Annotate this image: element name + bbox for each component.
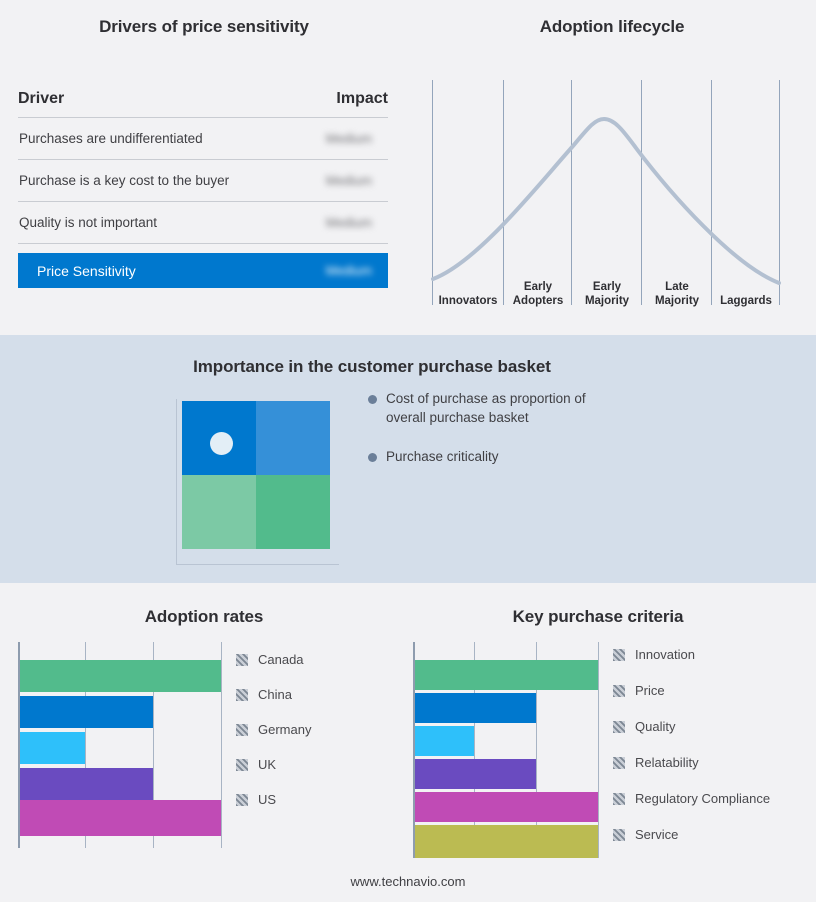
drivers-table: Driver Impact Purchases are undifferenti… xyxy=(18,90,388,288)
legend-label-line2: overall purchase basket xyxy=(386,410,529,425)
gridline-100 xyxy=(598,642,599,858)
legend-item-germany: Germany xyxy=(236,722,311,737)
matrix-quadrant-bottom-right xyxy=(256,475,330,549)
lifecycle-stage-laggards: Laggards xyxy=(712,294,780,308)
legend-item-purchase-criticality: Purchase criticality xyxy=(368,448,668,467)
impact-value: Medium xyxy=(326,173,388,188)
bar-us xyxy=(20,800,221,836)
driver-label: Purchase is a key cost to the buyer xyxy=(18,173,229,188)
gridline-100 xyxy=(221,642,222,848)
legend-item-us: US xyxy=(236,792,311,807)
matrix-position-marker xyxy=(210,432,233,455)
lifecycle-stage-label: Adopters xyxy=(504,294,572,308)
hatched-square-icon xyxy=(613,829,625,841)
bar-china xyxy=(20,696,153,728)
driver-label: Quality is not important xyxy=(18,215,157,230)
legend-label: Service xyxy=(635,827,678,842)
legend-label-line1: Cost of purchase as proportion of xyxy=(386,391,586,406)
lifecycle-stage-label: Majority xyxy=(642,294,712,308)
bar-canada xyxy=(20,660,221,692)
matrix-quadrants xyxy=(182,401,330,549)
drivers-panel: Drivers of price sensitivity Driver Impa… xyxy=(0,0,408,335)
legend-label: Relatability xyxy=(635,755,699,770)
bullet-icon xyxy=(368,395,377,404)
hatched-square-icon xyxy=(613,721,625,733)
legend-label: Purchase criticality xyxy=(386,448,499,467)
hatched-square-icon xyxy=(613,685,625,697)
legend-label: Regulatory Compliance xyxy=(635,791,770,806)
lifecycle-stage-label: Majority xyxy=(572,294,642,308)
lifecycle-stage-late-majority: Late Majority xyxy=(642,280,712,308)
table-row: Purchase is a key cost to the buyer Medi… xyxy=(18,160,388,202)
lifecycle-stage-label: Laggards xyxy=(712,294,780,308)
impact-value: Medium xyxy=(326,131,388,146)
legend-label: Price xyxy=(635,683,665,698)
legend-item-price: Price xyxy=(613,683,770,698)
hatched-square-icon xyxy=(613,757,625,769)
bar-uk xyxy=(20,768,153,800)
adoption-lifecycle-panel: Adoption lifecycle Innovators Early Adop… xyxy=(408,0,816,335)
lifecycle-stage-label: Innovators xyxy=(433,294,503,308)
legend-item-innovation: Innovation xyxy=(613,647,770,662)
impact-value: Medium xyxy=(326,215,388,230)
legend-item-uk: UK xyxy=(236,757,311,772)
column-header-impact: Impact xyxy=(336,90,388,108)
infographic-page: Drivers of price sensitivity Driver Impa… xyxy=(0,0,816,902)
table-row: Quality is not important Medium xyxy=(18,202,388,244)
matrix-quadrant-bottom-left xyxy=(182,475,256,549)
legend-label: US xyxy=(258,792,276,807)
drivers-table-header: Driver Impact xyxy=(18,90,388,118)
legend-item-cost-of-purchase: Cost of purchase as proportion of overal… xyxy=(368,390,668,427)
adoption-rates-plot xyxy=(18,642,222,848)
bar-quality xyxy=(415,726,474,756)
bar-service xyxy=(415,825,598,858)
lifecycle-divider-lines xyxy=(433,80,780,305)
bar-innovation xyxy=(415,660,598,690)
column-header-driver: Driver xyxy=(18,90,64,108)
importance-title: Importance in the customer purchase bask… xyxy=(0,357,744,377)
price-sensitivity-summary-row: Price Sensitivity Medium xyxy=(18,253,388,288)
legend-label: Germany xyxy=(258,722,311,737)
legend-label: China xyxy=(258,687,292,702)
summary-driver-label: Price Sensitivity xyxy=(18,263,136,279)
matrix-y-axis xyxy=(176,399,177,565)
table-row: Purchases are undifferentiated Medium xyxy=(18,118,388,160)
hatched-square-icon xyxy=(236,724,248,736)
bar-germany xyxy=(20,732,85,764)
lifecycle-stage-label: Early xyxy=(504,280,572,294)
matrix-x-axis xyxy=(176,564,339,565)
key-purchase-criteria-panel: Key purchase criteria Innovation Price xyxy=(408,583,816,902)
hatched-square-icon xyxy=(236,654,248,666)
legend-item-quality: Quality xyxy=(613,719,770,734)
hatched-square-icon xyxy=(613,649,625,661)
legend-label: Cost of purchase as proportion of overal… xyxy=(386,390,586,427)
hatched-square-icon xyxy=(613,793,625,805)
drivers-title: Drivers of price sensitivity xyxy=(0,17,408,37)
lifecycle-stage-innovators: Innovators xyxy=(433,294,503,308)
key-purchase-criteria-title: Key purchase criteria xyxy=(394,607,802,627)
footer-url: www.technavio.com xyxy=(0,874,816,889)
legend-label: Innovation xyxy=(635,647,695,662)
hatched-square-icon xyxy=(236,689,248,701)
importance-legend: Cost of purchase as proportion of overal… xyxy=(368,390,668,488)
importance-panel: Importance in the customer purchase bask… xyxy=(0,335,816,583)
lifecycle-stage-label: Late xyxy=(642,280,712,294)
legend-label: Quality xyxy=(635,719,675,734)
legend-label: UK xyxy=(258,757,276,772)
legend-item-canada: Canada xyxy=(236,652,311,667)
summary-impact-value: Medium xyxy=(326,263,388,278)
bar-price xyxy=(415,693,536,723)
matrix-quadrant-top-left xyxy=(182,401,256,475)
lifecycle-stage-early-majority: Early Majority xyxy=(572,280,642,308)
legend-label: Canada xyxy=(258,652,304,667)
key-purchase-criteria-plot xyxy=(413,642,599,858)
legend-item-china: China xyxy=(236,687,311,702)
hatched-square-icon xyxy=(236,759,248,771)
adoption-rates-title: Adoption rates xyxy=(0,607,408,627)
bell-curve-path xyxy=(433,119,779,283)
bullet-icon xyxy=(368,453,377,462)
legend-item-regulatory-compliance: Regulatory Compliance xyxy=(613,791,770,806)
hatched-square-icon xyxy=(236,794,248,806)
matrix-quadrant-top-right xyxy=(256,401,330,475)
lifecycle-stage-label: Early xyxy=(572,280,642,294)
legend-item-relatability: Relatability xyxy=(613,755,770,770)
lifecycle-stage-early-adopters: Early Adopters xyxy=(504,280,572,308)
importance-matrix-chart xyxy=(182,401,330,549)
adoption-rates-legend: Canada China Germany UK US xyxy=(236,652,311,807)
legend-item-service: Service xyxy=(613,827,770,842)
bar-relatability xyxy=(415,759,536,789)
driver-label: Purchases are undifferentiated xyxy=(18,131,203,146)
bar-regulatory-compliance xyxy=(415,792,598,822)
key-purchase-criteria-legend: Innovation Price Quality Relatability Re… xyxy=(613,647,770,842)
adoption-rates-panel: Adoption rates Canada China Germa xyxy=(0,583,408,902)
